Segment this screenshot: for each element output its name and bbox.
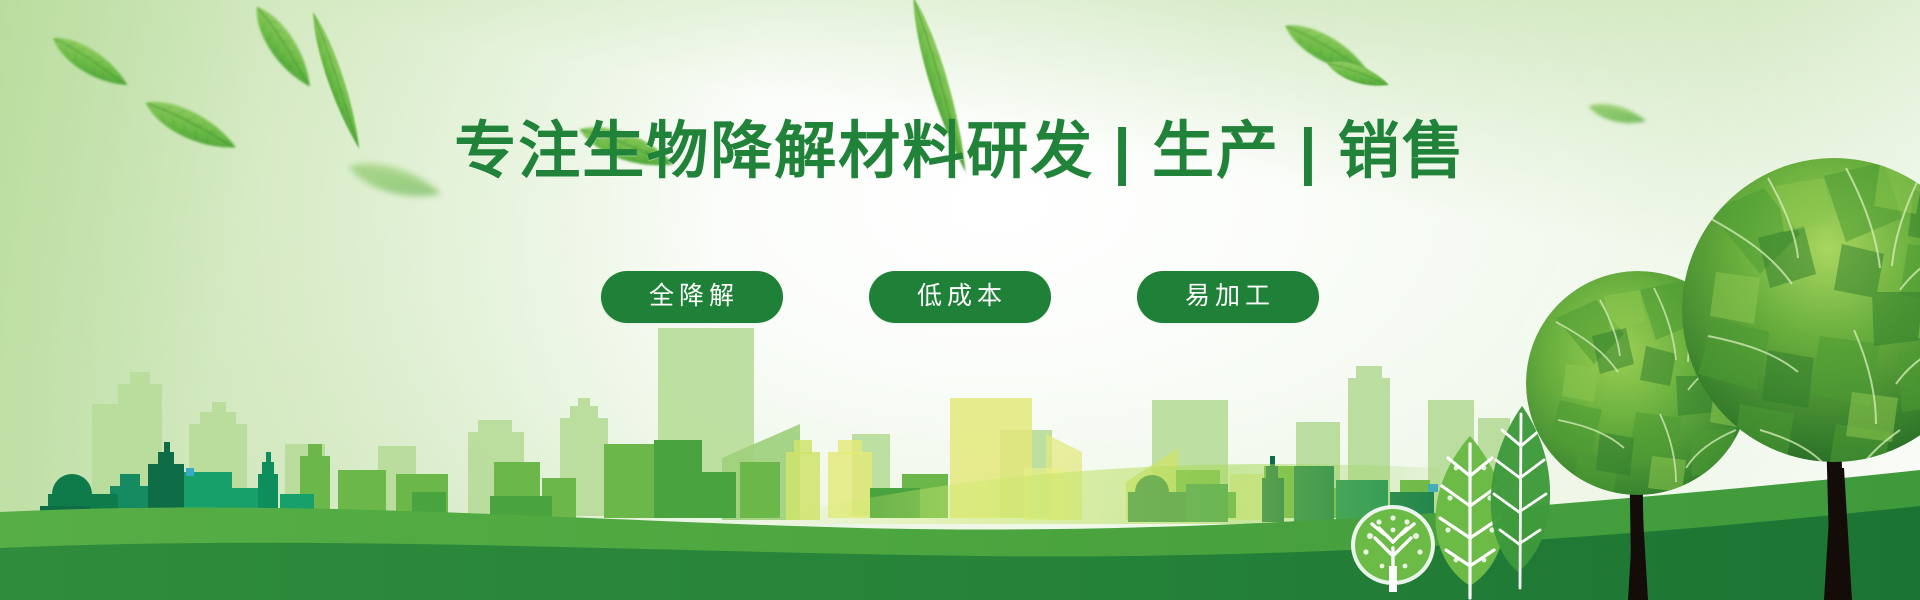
hero-banner: 专注生物降解材料研发 | 生产 | 销售 全降解 低成本 易加工	[0, 0, 1920, 600]
big-tree-large	[1682, 158, 1920, 600]
big-trees-layer	[0, 0, 1920, 600]
